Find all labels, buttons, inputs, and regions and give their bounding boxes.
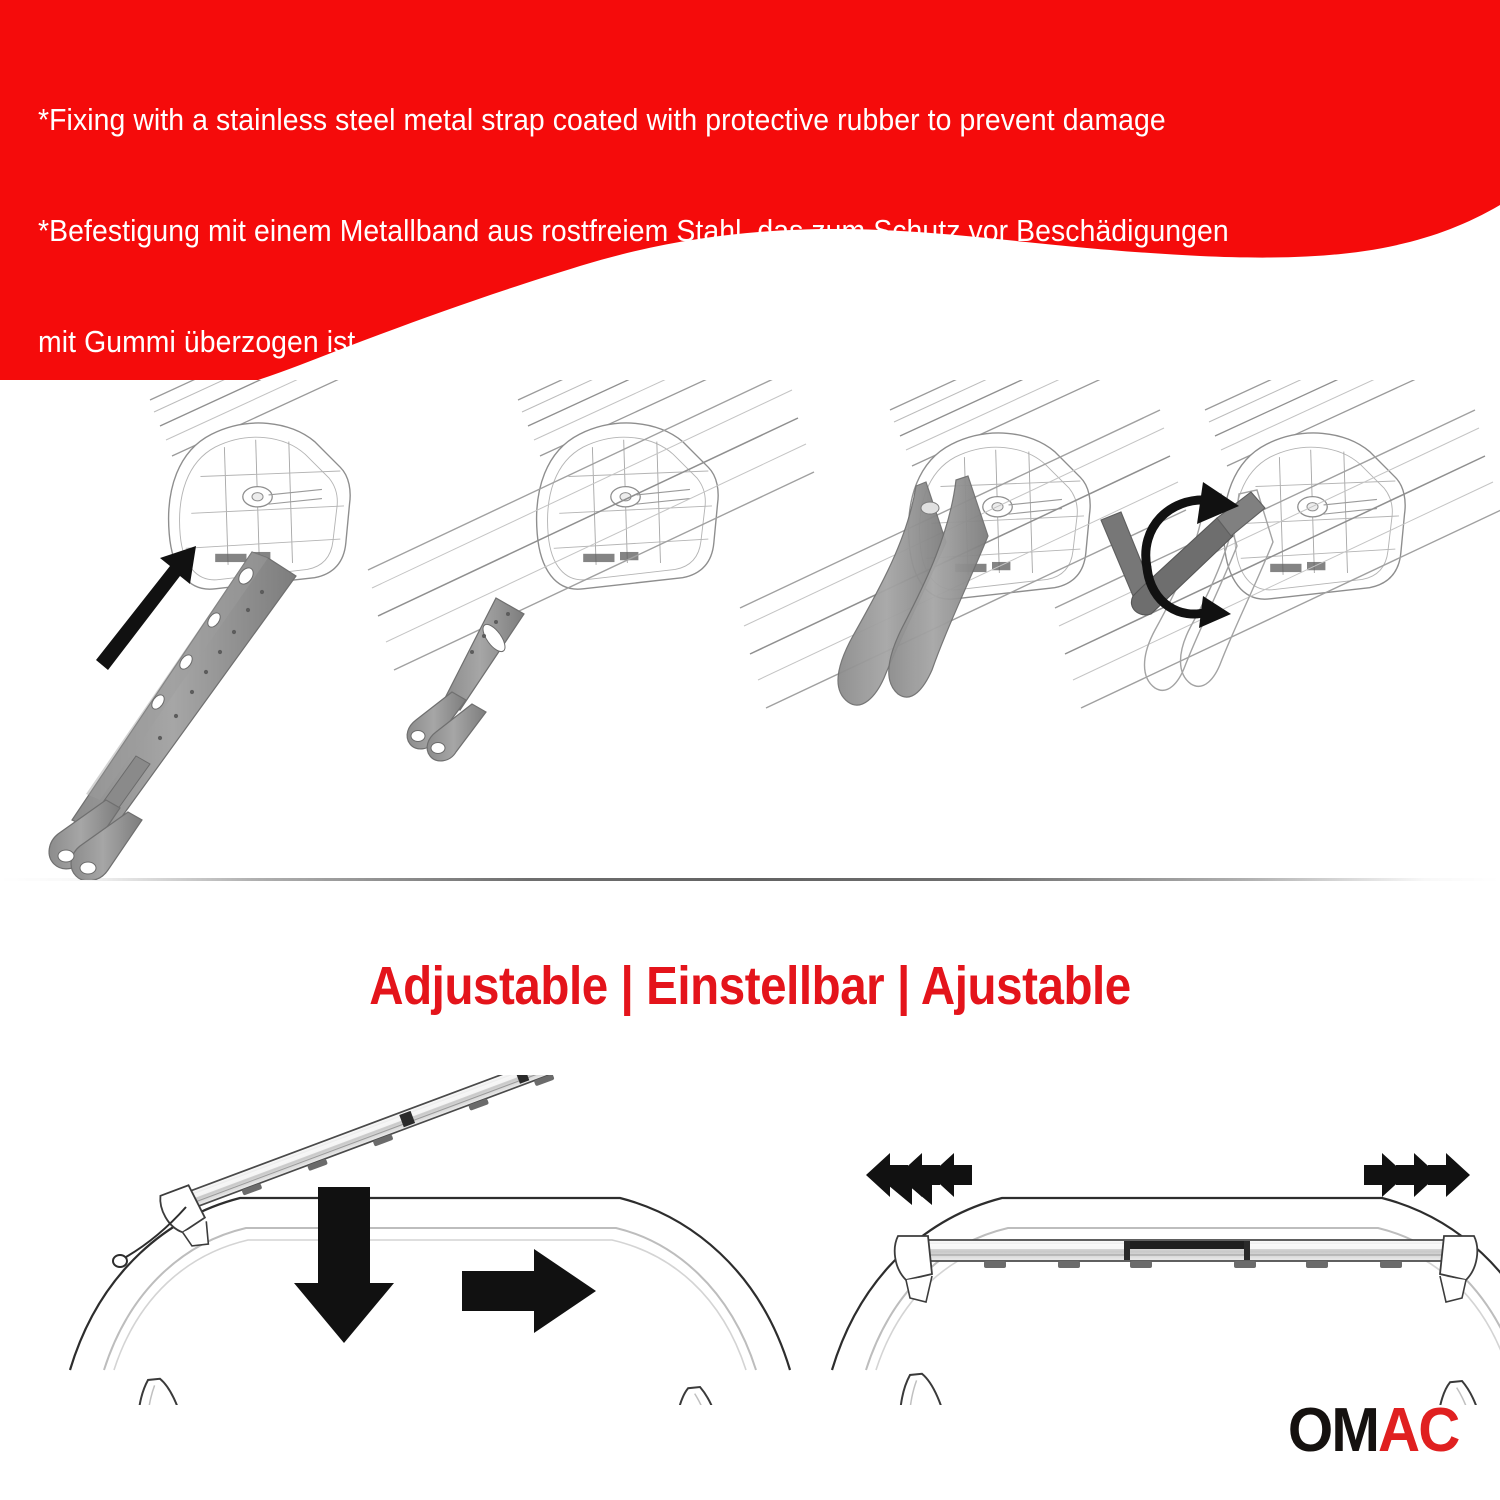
product-infographic-page: *Fixing with a stainless steel metal str… [0,0,1500,1500]
banner-line-1: *Fixing with a stainless steel metal str… [38,102,1359,139]
arrow-right-triple-icon [1364,1153,1470,1197]
omac-logo: OMAC [1287,1400,1458,1462]
crossbar-width-adjust-diagram [832,1153,1500,1405]
metal-strap-part [49,552,296,880]
logo-red-text: AC [1378,1396,1458,1465]
bottom-diagrams [0,1075,1500,1405]
metal-strap-part [407,598,524,761]
logo-dark-text: OM [1287,1396,1377,1465]
step-1-strap-insert [49,380,602,880]
banner-line-3: mit Gummi überzogen ist [38,324,1359,361]
arrow-left-triple-icon [866,1153,972,1205]
crossbar-positioning-diagram [70,1075,790,1405]
section-title: Adjustable | Einstellbar | Ajustable [90,955,1410,1017]
section-divider [0,878,1500,881]
red-banner: *Fixing with a stainless steel metal str… [0,0,1500,380]
step-2-foot-on-rail [368,380,970,761]
installation-steps-strip [0,380,1500,880]
step-4-allen-key-tighten [1055,380,1500,708]
banner-line-2: *Befestigung mit einem Metallband aus ro… [38,213,1359,250]
rotate-arrow-head-2-icon [1199,596,1231,628]
insert-arrow-icon [96,546,196,670]
